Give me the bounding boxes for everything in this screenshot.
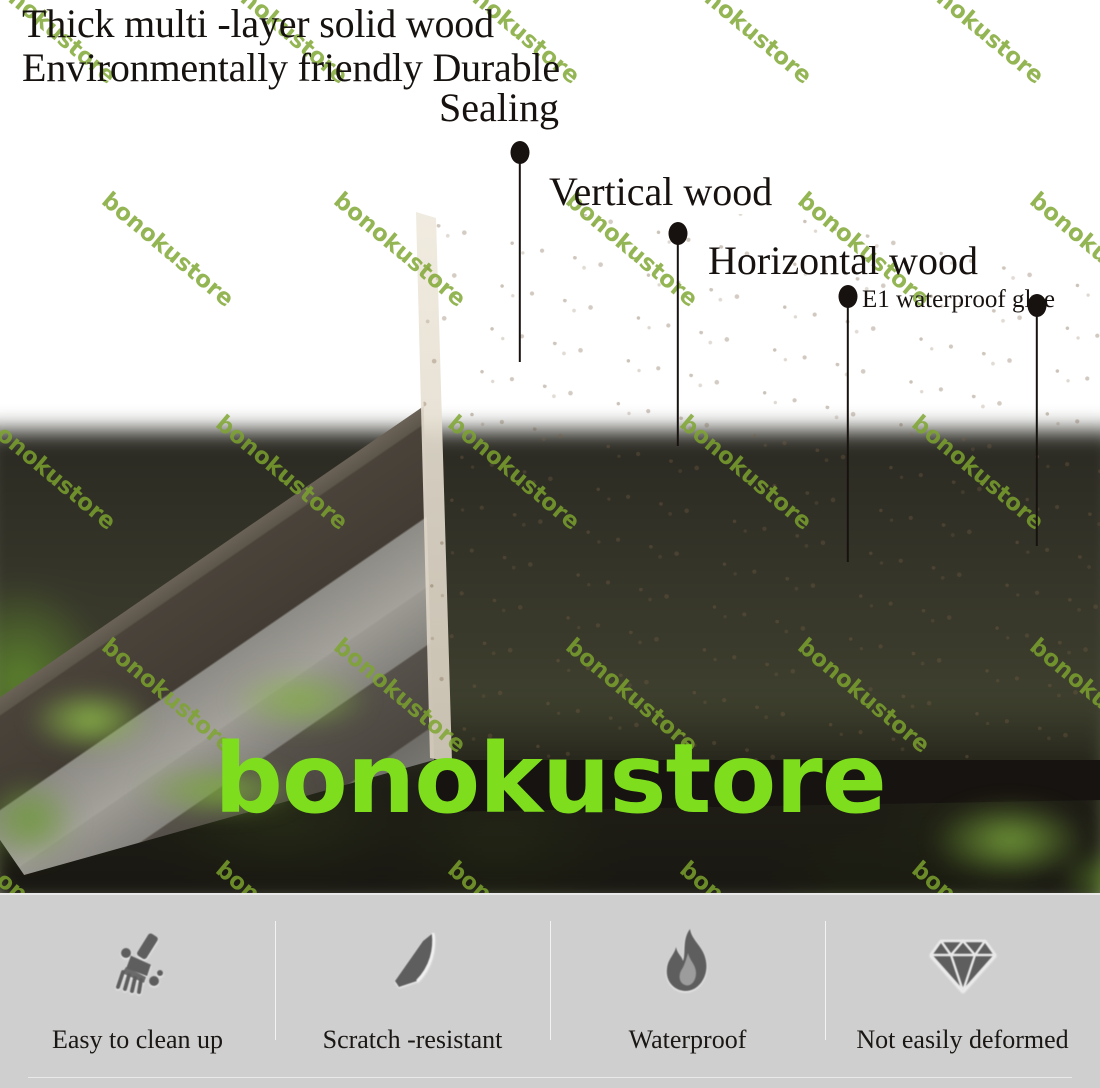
feature-bar: Easy to clean up Scratch -resistant Wate…: [0, 893, 1100, 1088]
callout-label-vertical-wood: Vertical wood: [549, 172, 772, 212]
headline-line-1: Thick multi -layer solid wood: [22, 2, 742, 46]
pin-stem: [847, 294, 849, 562]
headline: Thick multi -layer solid wood Environmen…: [22, 2, 742, 90]
callout-label-e1-glue: E1 waterproof glue: [862, 287, 1055, 312]
broom-icon: [96, 919, 180, 1003]
headline-line-2: Environmentally friendly Durable: [22, 46, 742, 90]
pin-stem: [519, 150, 521, 362]
feature-label: Easy to clean up: [52, 1025, 223, 1055]
diamond-icon: [921, 919, 1005, 1003]
pin-stem: [677, 231, 679, 446]
feature-scratch-resistant: Scratch -resistant: [275, 895, 550, 1088]
feature-not-easily-deformed: Not easily deformed: [825, 895, 1100, 1088]
watermark-main: bonokustore: [214, 731, 886, 827]
pin-head-icon: [839, 285, 858, 308]
foreground-leaves-right: [900, 760, 1100, 893]
feature-label: Not easily deformed: [856, 1025, 1068, 1055]
feature-label: Scratch -resistant: [323, 1025, 503, 1055]
knife-icon: [371, 919, 455, 1003]
feature-easy-to-clean-up: Easy to clean up: [0, 895, 275, 1088]
pin-head-icon: [511, 141, 530, 164]
pin-stem: [1036, 303, 1038, 546]
callout-label-horizontal-wood: Horizontal wood: [708, 241, 978, 281]
feature-label: Waterproof: [629, 1025, 747, 1055]
flame-icon: [646, 919, 730, 1003]
product-infographic: Thick multi -layer solid wood Environmen…: [0, 0, 1100, 1088]
pin-head-icon: [669, 222, 688, 245]
callout-label-sealing: Sealing: [439, 88, 559, 128]
feature-waterproof: Waterproof: [550, 895, 825, 1088]
